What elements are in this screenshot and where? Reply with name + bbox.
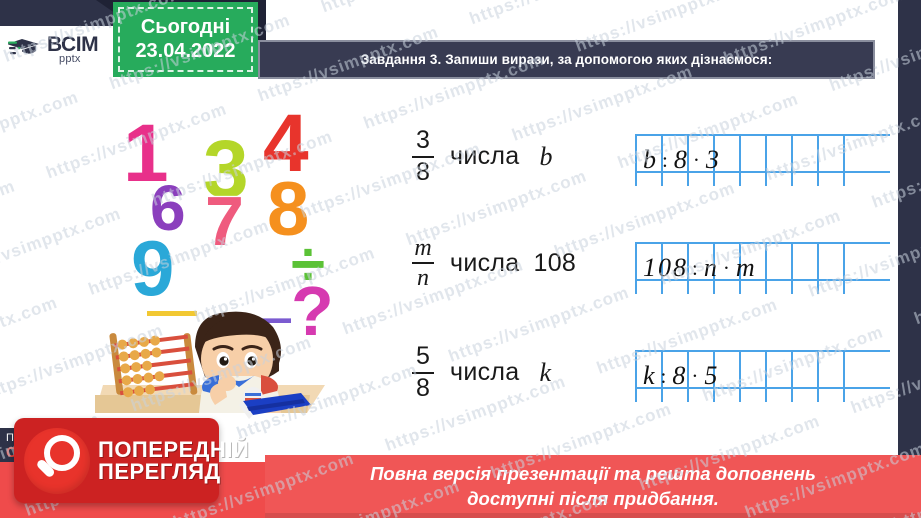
task-word: числа [450, 358, 519, 387]
preview-badge[interactable]: ПОПЕРЕДНІЙ ПЕРЕГЛЯД [14, 418, 219, 503]
answer-operator-2: · [693, 148, 702, 173]
answer-grid[interactable]: k : 8 · 5 [635, 350, 890, 402]
date-badge-date: 23.04.2022 [135, 40, 235, 64]
purchase-banner-line-2: доступні після придбання. [467, 487, 719, 512]
svg-text:7: 7 [205, 182, 244, 260]
page-title: Завдання 3. Запиши вирази, за допомогою … [361, 52, 773, 67]
answer-text: k : 8 · 5 [643, 356, 719, 396]
answer-operator-1: : [661, 364, 669, 389]
slide-canvas: ВСІМ pptx Сьогодні 23.04.2022 Завдання 3… [0, 0, 921, 518]
task-word: числа [450, 249, 519, 278]
answer-operand-3: m [736, 253, 757, 283]
answer-text: b : 8 · 3 [643, 140, 721, 180]
purchase-banner: Повна версія презентації та решта доповн… [265, 455, 921, 518]
answer-grid[interactable]: b : 8 · 3 [635, 134, 890, 186]
task-variable: 108 [533, 249, 576, 278]
fraction-denominator: 8 [416, 376, 430, 402]
answer-operand-2: 8 [674, 145, 689, 175]
svg-text:?: ? [291, 272, 334, 350]
fraction: 5 8 [410, 344, 436, 401]
fraction-bar [412, 262, 434, 264]
answer-operand-1: b [643, 145, 658, 175]
task-variable: b [539, 142, 552, 172]
answer-operand-2: 8 [672, 361, 687, 391]
answer-grid[interactable]: 108 : n · m [635, 242, 890, 294]
task-row: m n числа 108 108 [410, 228, 890, 336]
task-row: 3 8 числа b b [410, 120, 890, 228]
purchase-banner-line-1: Повна версія презентації та решта доповн… [370, 462, 816, 487]
preview-badge-line-1: ПОПЕРЕДНІЙ [98, 439, 249, 461]
answer-operand-3: 5 [704, 361, 719, 391]
answer-operator-1: : [662, 148, 670, 173]
brand-logo-text: ВСІМ pptx [47, 35, 98, 64]
fraction-numerator: 5 [416, 344, 430, 370]
task-rows: 3 8 числа b b [410, 120, 890, 444]
answer-operator-2: · [723, 256, 732, 281]
answer-operator-1: : [692, 256, 700, 281]
answer-text: 108 : n · m [643, 248, 757, 288]
task-header-bar: Завдання 3. Запиши вирази, за допомогою … [258, 40, 875, 79]
graduation-cap-icon [8, 35, 44, 65]
date-badge-label: Сьогодні [141, 16, 230, 40]
task-row: 5 8 числа k k [410, 336, 890, 444]
fraction-denominator: n [417, 266, 429, 290]
fraction-denominator: 8 [416, 160, 430, 186]
answer-operand-3: 3 [706, 145, 721, 175]
answer-operand-1: k [643, 361, 657, 391]
task-expression: 5 8 числа k [410, 344, 551, 401]
brand-subname: pptx [59, 54, 98, 64]
task-expression: 3 8 числа b [410, 128, 552, 185]
task-expression: m n числа 108 [410, 236, 576, 291]
boy-thinking-with-numbers-illustration: 1 3 4 6 7 8 9 ÷ ? — — [95, 95, 425, 425]
brand-name: ВСІМ [47, 35, 98, 55]
task-word: числа [450, 142, 519, 171]
answer-operand-2: n [704, 253, 719, 283]
fraction: 3 8 [410, 128, 436, 185]
preview-badge-text: ПОПЕРЕДНІЙ ПЕРЕГЛЯД [98, 439, 249, 483]
answer-operator-2: · [691, 364, 700, 389]
fraction-numerator: 3 [416, 128, 430, 154]
preview-badge-line-2: ПЕРЕГЛЯД [98, 461, 249, 483]
fraction: m n [410, 236, 436, 291]
slide-right-border [898, 0, 921, 518]
magnifier-icon [24, 428, 90, 494]
answer-operand-1: 108 [643, 253, 688, 283]
brand-logo[interactable]: ВСІМ pptx [0, 26, 110, 74]
svg-text:—: — [147, 282, 197, 338]
task-variable: k [539, 358, 551, 388]
fraction-numerator: m [414, 236, 431, 260]
date-badge: Сьогодні 23.04.2022 [113, 2, 258, 77]
